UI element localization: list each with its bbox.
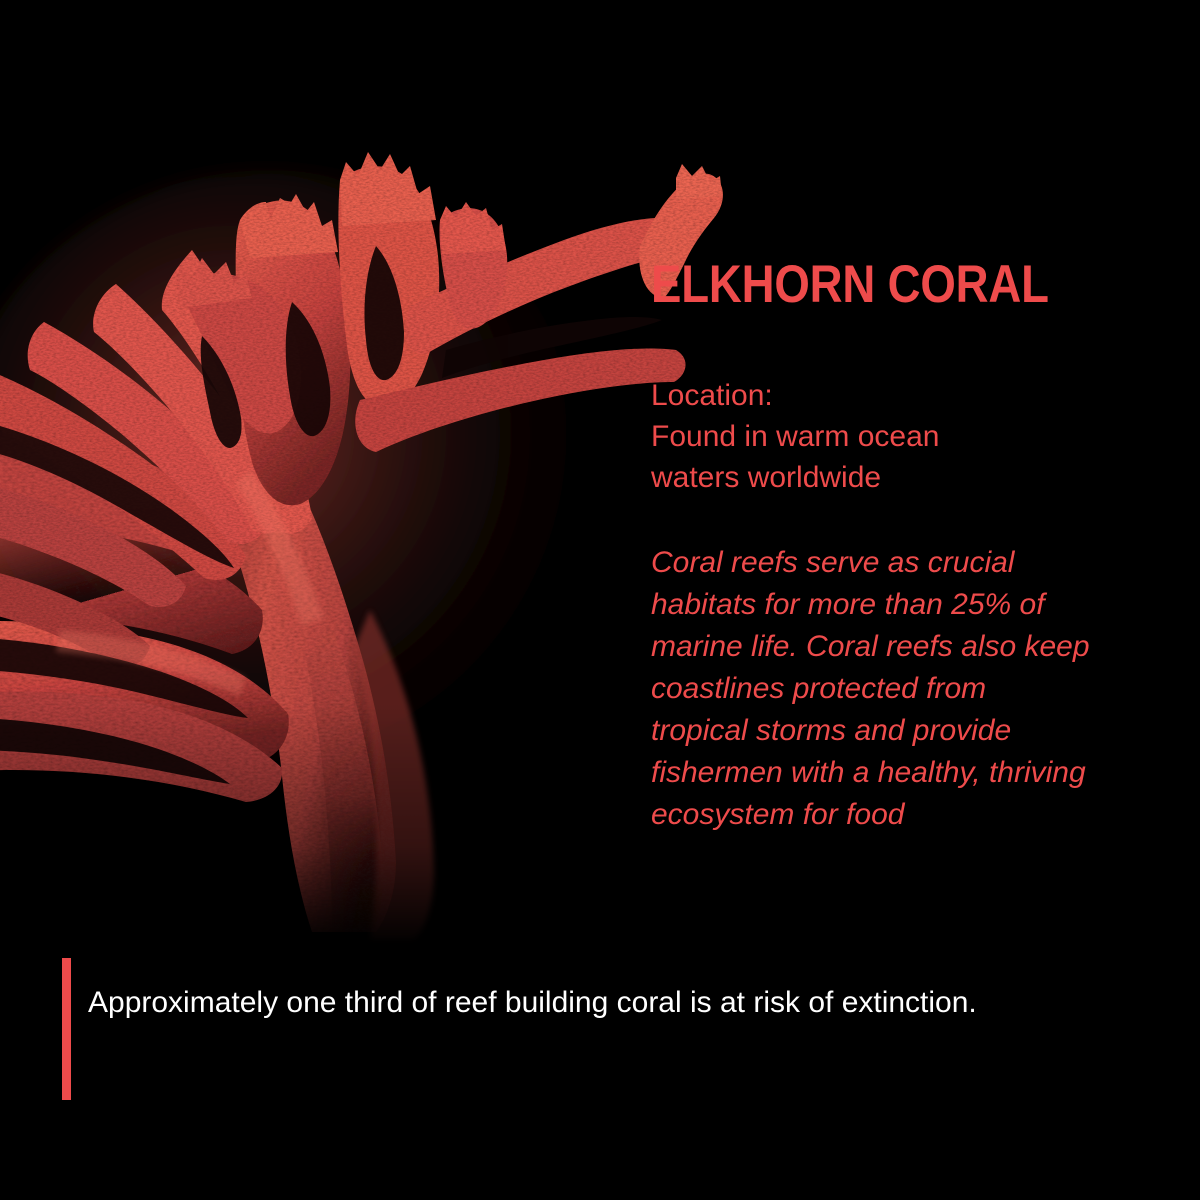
coral-trunk <box>212 430 396 934</box>
page-title: ELKHORN CORAL <box>651 258 1055 311</box>
location-label: Location: <box>651 375 1121 416</box>
coral-left-branches <box>0 250 312 667</box>
location-line-2: waters worldwide <box>651 457 1121 498</box>
caption-row: Approximately one third of reef building… <box>62 958 988 1100</box>
info-panel: ELKHORN CORAL Location: Found in warm oc… <box>651 258 1121 866</box>
location-block: Location: Found in warm ocean waters wor… <box>651 375 1121 498</box>
coral-upper-branches <box>176 152 723 505</box>
coral-lower-plates <box>0 430 289 802</box>
caption-text: Approximately one third of reef building… <box>88 983 988 1022</box>
infographic-card: ELKHORN CORAL Location: Found in warm oc… <box>0 0 1200 1200</box>
description-paragraph: Coral reefs serve as crucial habitats fo… <box>651 542 1091 836</box>
accent-bar <box>62 958 71 1100</box>
location-line-1: Found in warm ocean <box>651 416 1121 457</box>
